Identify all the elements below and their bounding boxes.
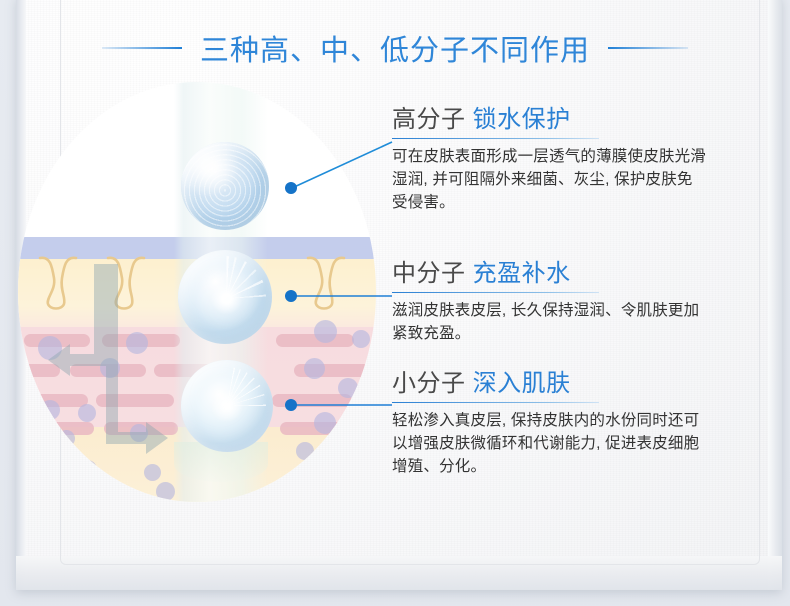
section-small-molecular: 小分子 深入肌肤 轻松渗入真皮层, 保持皮肤内的水份同时还可以增强皮肤微循环和代…: [392, 369, 708, 478]
small-molecular-droplet: [181, 360, 273, 452]
section-prefix: 中分子: [392, 260, 466, 287]
title-rule-right-icon: [608, 47, 688, 49]
page-title: 三种高、中、低分子不同作用: [0, 24, 790, 72]
section-accent: 锁水保护: [473, 106, 571, 133]
section-prefix: 高分子: [392, 106, 466, 133]
skin-cross-section-illustration: [16, 80, 378, 504]
medium-molecular-droplet: [178, 250, 272, 344]
section-heading: 高分子 锁水保护: [392, 105, 708, 135]
section-prefix: 小分子: [392, 370, 466, 397]
section-heading: 小分子 深入肌肤: [392, 369, 708, 399]
section-underline: [392, 292, 599, 293]
illustration-circle-mask: [18, 82, 376, 502]
section-accent: 深入肌肤: [473, 370, 571, 397]
page-title-text: 三种高、中、低分子不同作用: [200, 27, 590, 69]
section-body: 可在皮肤表面形成一层透气的薄膜使皮肤光滑湿润, 并可阻隔外来细菌、灰尘, 保护皮…: [392, 145, 708, 214]
title-rule-left-icon: [102, 47, 182, 49]
section-body: 滋润皮肤表皮层, 长久保持湿润、令肌肤更加紧致充盈。: [392, 299, 708, 345]
high-molecular-droplet: [181, 142, 269, 230]
poster-root: 三种高、中、低分子不同作用: [0, 0, 790, 606]
section-heading: 中分子 充盈补水: [392, 259, 708, 289]
section-underline: [392, 402, 599, 403]
section-accent: 充盈补水: [473, 260, 571, 287]
section-high-molecular: 高分子 锁水保护 可在皮肤表面形成一层透气的薄膜使皮肤光滑湿润, 并可阻隔外来细…: [392, 105, 708, 214]
section-body: 轻松渗入真皮层, 保持皮肤内的水份同时还可以增强皮肤微循环和代谢能力, 促进表皮…: [392, 409, 708, 478]
section-underline: [392, 138, 599, 139]
section-medium-molecular: 中分子 充盈补水 滋润皮肤表皮层, 长久保持湿润、令肌肤更加紧致充盈。: [392, 259, 708, 345]
paper-right-edge: [768, 0, 782, 590]
